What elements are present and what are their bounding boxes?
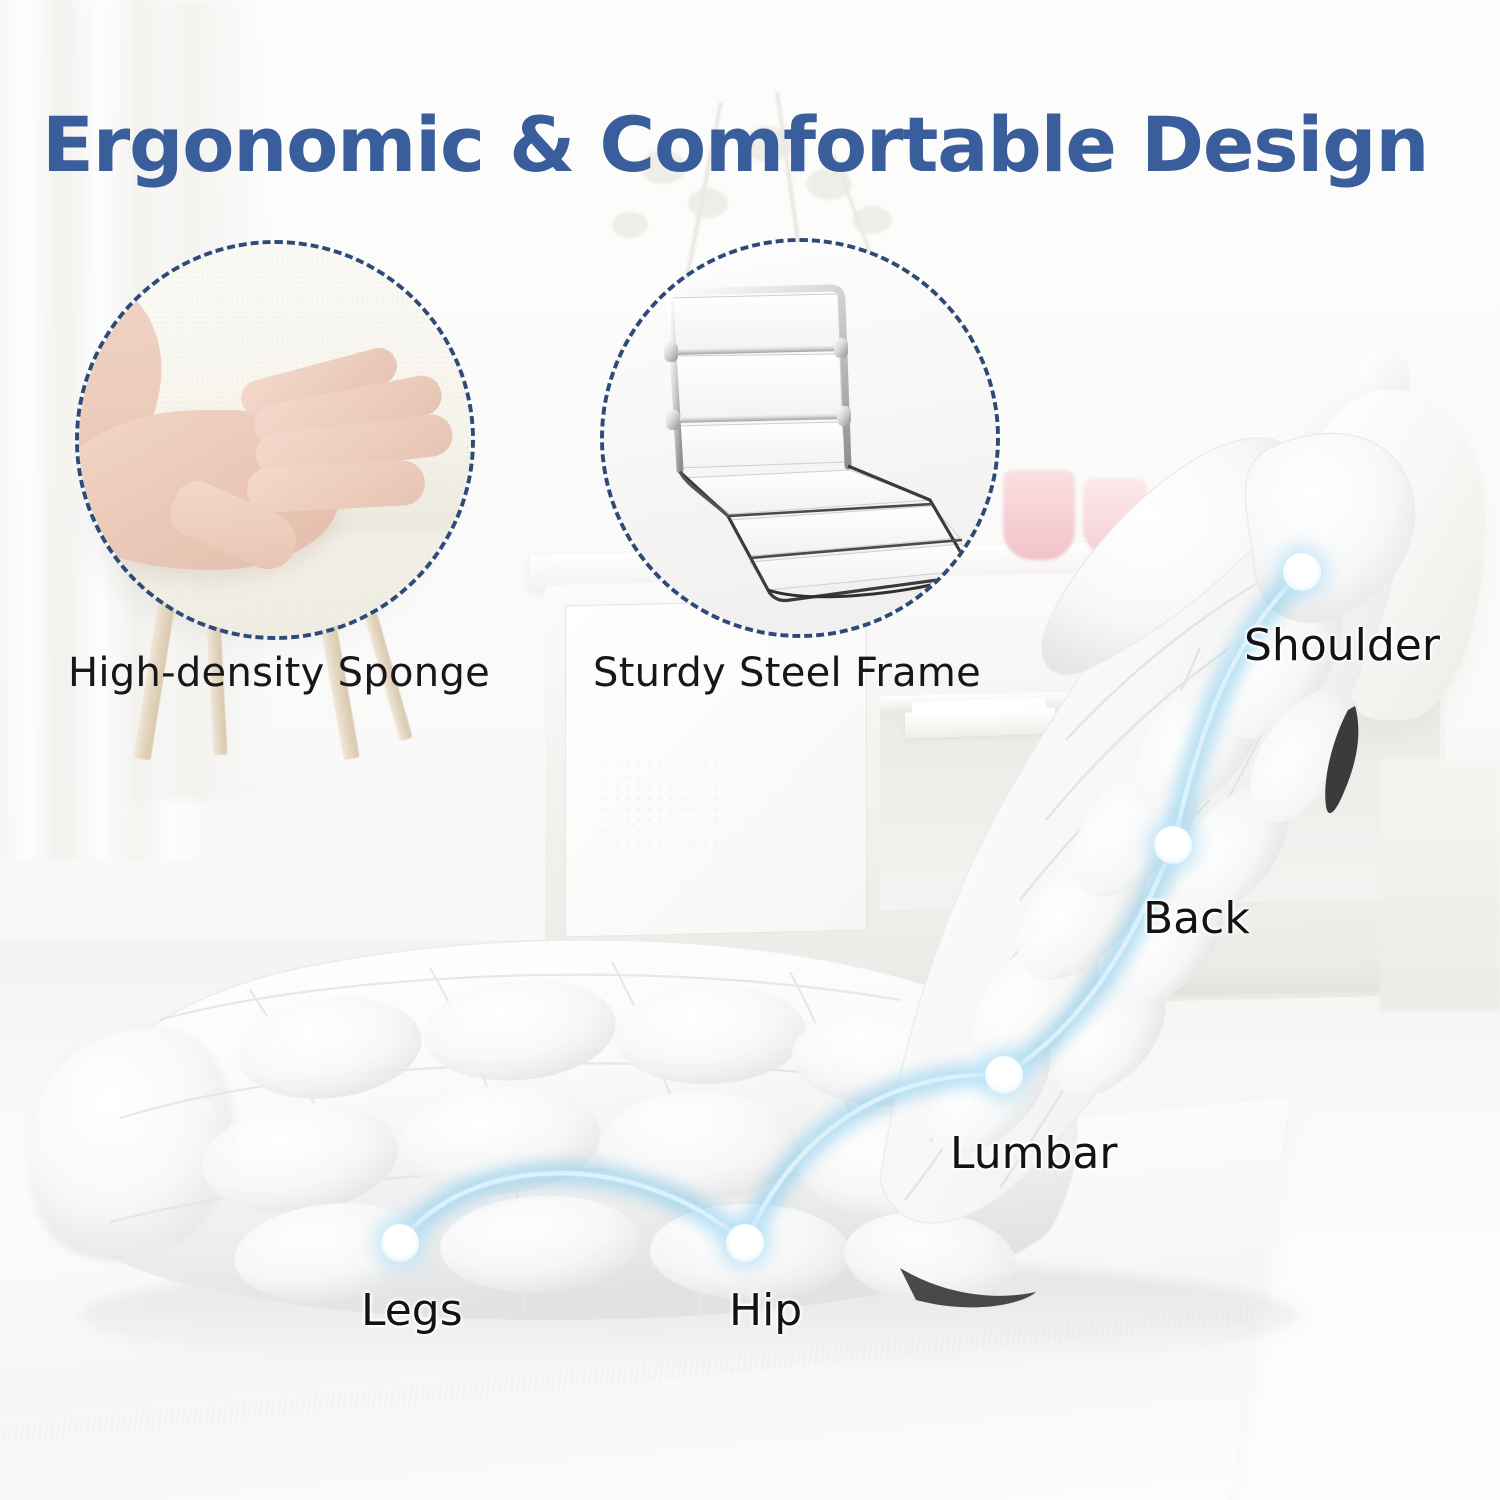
body-point-node-legs[interactable] <box>381 1224 419 1262</box>
finger <box>246 459 426 513</box>
feature-caption-sponge: High-density Sponge <box>68 650 490 696</box>
page-title: Ergonomic & Comfortable Design <box>42 100 1428 189</box>
body-point-node-shoulder[interactable] <box>1283 553 1321 591</box>
body-point-label-hip: Hip <box>729 1285 802 1336</box>
body-point-label-lumbar: Lumbar <box>950 1128 1117 1179</box>
feature-inset-high-density-sponge[interactable] <box>75 240 475 640</box>
body-point-label-back: Back <box>1143 893 1250 944</box>
product-infographic: Shoulder Back Lumbar Hip Legs High-densi… <box>0 0 1500 1500</box>
body-point-node-back[interactable] <box>1154 826 1192 864</box>
body-point-node-lumbar[interactable] <box>985 1056 1023 1094</box>
foam-surface <box>75 240 475 640</box>
feature-inset-sturdy-steel-frame[interactable] <box>600 238 1000 638</box>
body-point-markers: Shoulder Back Lumbar Hip Legs <box>0 0 1500 1500</box>
feature-caption-steel-frame: Sturdy Steel Frame <box>593 650 981 696</box>
steel-chair-frame-icon <box>600 238 1000 638</box>
body-point-label-shoulder: Shoulder <box>1244 620 1440 671</box>
frame-backdrop <box>600 238 1000 638</box>
body-point-label-legs: Legs <box>361 1285 463 1336</box>
body-point-node-hip[interactable] <box>726 1224 764 1262</box>
hand-pressing-foam-icon <box>75 368 475 583</box>
